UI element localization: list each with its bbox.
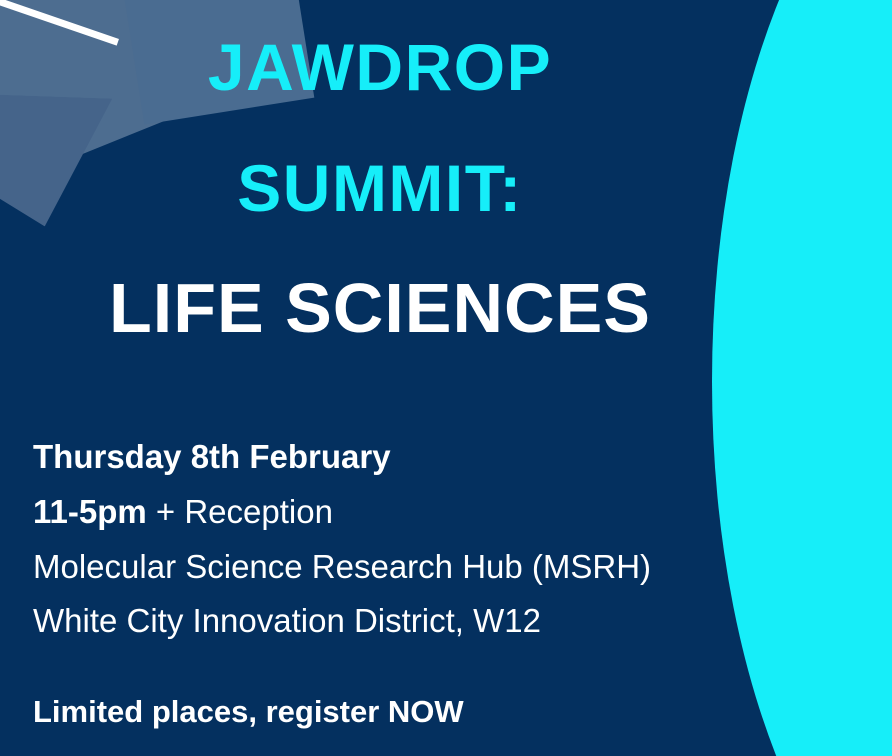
- headline-line-3: LIFE SCIENCES: [0, 221, 760, 343]
- event-time: 11-5pm + Reception: [33, 485, 813, 540]
- event-date: Thursday 8th February: [33, 430, 813, 485]
- headline-line-2: SUMMIT:: [0, 100, 760, 221]
- event-address: White City Innovation District, W12: [33, 594, 813, 649]
- poster-content: JAWDROP SUMMIT: LIFE SCIENCES Thursday 8…: [0, 0, 892, 756]
- headline-line-1: JAWDROP: [0, 16, 760, 100]
- event-poster: JAWDROP SUMMIT: LIFE SCIENCES Thursday 8…: [0, 0, 892, 756]
- event-time-value: 11-5pm: [33, 493, 147, 530]
- event-details: Thursday 8th February 11-5pm + Reception…: [33, 430, 813, 649]
- event-time-suffix: + Reception: [147, 493, 333, 530]
- headline-block: JAWDROP SUMMIT: LIFE SCIENCES: [0, 16, 760, 343]
- event-venue: Molecular Science Research Hub (MSRH): [33, 540, 813, 595]
- registration-call-to-action[interactable]: Limited places, register NOW: [33, 694, 464, 730]
